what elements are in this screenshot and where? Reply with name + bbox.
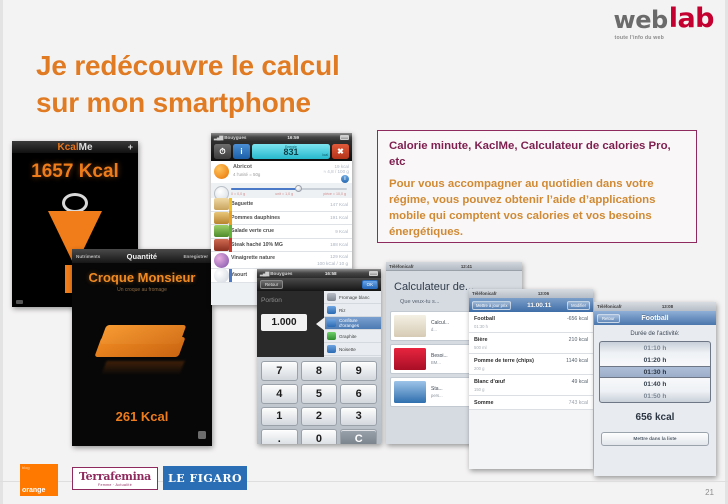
calc-time: 12:41 [461, 264, 472, 269]
screenshot-football-picker: Téléfonicafr 13:08 Retour Football Durée… [594, 302, 716, 476]
timer-icon[interactable]: ⏱ [214, 144, 231, 159]
football-time: 13:08 [662, 304, 673, 309]
list-item-sub: d... [431, 327, 449, 332]
key-6[interactable]: 6 [340, 384, 377, 404]
football-nav-title: Football [594, 315, 716, 322]
list-item[interactable]: Bière 500 ml 210 kcal [469, 333, 593, 354]
list-item-name: Baguette [231, 201, 330, 207]
list-item[interactable]: Riz [324, 304, 381, 317]
list-item-kcal: 49 kcal [572, 379, 588, 385]
portion-label: Portion [261, 297, 320, 304]
duration-picker[interactable]: 01:10 h 01:20 h 01:30 h 01:40 h 01:50 h [599, 341, 711, 403]
list-item-qty: 01:30 h [474, 324, 495, 329]
slider-ticks: 0 = 0,0 g unit = 1,0 g pièce = 10,0 g [231, 192, 346, 196]
signal-icon: ▂▄▆ [214, 135, 222, 141]
add-to-list-button[interactable]: Mettre dans la liste [601, 432, 709, 446]
list-item-selected[interactable]: Confiture d'oranges [324, 317, 381, 330]
list-item[interactable]: Pommes dauphines 191 Kcal [211, 212, 352, 226]
list-item-qty: 500 ml [474, 345, 488, 350]
list-item-kcal: 191 Kcal [330, 215, 348, 220]
detail-info-icon[interactable]: i [341, 175, 349, 183]
kcallist-sum-row: Somme 743 kcal [469, 396, 593, 410]
item-swatch [327, 306, 336, 314]
croque-nav-title: Quantité [127, 252, 157, 261]
terrafemina-logo: Terrafemina Femme · Actualité [72, 467, 158, 490]
croque-food-subtitle: Un croque au fromage [72, 287, 212, 293]
info-icon[interactable]: i [233, 144, 250, 159]
list-item[interactable]: Pomme de terre (chips) 200 g 1140 kcal [469, 354, 593, 375]
energy-badge-value: 831 [283, 148, 298, 157]
list-item-kcal: 147 Kcal [330, 202, 348, 207]
list-item[interactable]: Blanc d'œuf 150 g 49 kcal [469, 375, 593, 396]
key-0[interactable]: 0 [301, 429, 338, 444]
figure-head [62, 193, 88, 213]
footer: blog orange Terrafemina Femme · Actualit… [0, 456, 728, 504]
foodlist-carrier: ▂▄▆ Bouygues [214, 135, 246, 141]
category-stripe [229, 211, 232, 225]
key-9[interactable]: 9 [340, 361, 377, 381]
kcallist-carrier: Téléfonicafr [472, 291, 497, 296]
duration-label: Durée de l'activité: [594, 325, 716, 341]
apple-icon [214, 164, 229, 179]
list-item-name: Blanc d'œuf [474, 379, 505, 385]
croque-food-image [94, 321, 190, 377]
food-thumb-baguette [214, 198, 229, 210]
key-5[interactable]: 5 [301, 384, 338, 404]
food-thumb-yaourt [214, 268, 229, 283]
list-item-label: Riz [339, 308, 346, 313]
croque-reflection [101, 361, 184, 375]
list-item-label: Noisette [339, 347, 356, 352]
terrafemina-name: Terrafemina [79, 470, 151, 483]
keypad-carrier-label: Bouygues [270, 271, 292, 276]
food-thumb-steak [214, 239, 229, 251]
calc-thumb-2 [394, 348, 426, 370]
keypad-field-area: Portion 1.000 [257, 291, 324, 357]
key-2[interactable]: 2 [301, 407, 338, 427]
list-item[interactable]: Baguette 147 Kcal [211, 198, 352, 212]
orange-name: orange [22, 487, 45, 494]
calc-row-text: Besoi... BM... [431, 353, 448, 366]
croque-nav-left[interactable]: Nutriments [76, 254, 100, 259]
sum-kcal: 743 kcal [569, 400, 588, 406]
hero-text: Abricot 4 l'unité = 50g [229, 164, 323, 183]
list-item-name: Bière [474, 337, 488, 343]
list-item[interactable]: Graphite [324, 330, 381, 343]
battery-icon [369, 271, 378, 276]
item-swatch [327, 332, 336, 340]
numeric-keypad: 7 8 9 4 5 6 1 2 3 . 0 C [257, 357, 381, 444]
calc-thumb-3 [394, 381, 426, 403]
kcallist-time: 13:06 [538, 291, 549, 296]
foodlist-statusbar: ▂▄▆ Bouygues 16:59 [211, 133, 352, 142]
croque-slice-top [100, 325, 187, 344]
keypad-navbar: Retour OK [257, 278, 381, 291]
portion-value[interactable]: 1.000 [261, 314, 307, 331]
hero-per-unit: ≈ 4,8 / 100 g [323, 169, 349, 174]
list-item-kcal: 188 Kcal [330, 242, 348, 247]
list-item-title: Sta... [431, 386, 443, 394]
kcallist-statusbar: Téléfonicafr 13:06 [469, 289, 593, 298]
logo-lab-label: lab [669, 5, 714, 32]
done-button[interactable]: OK [362, 280, 378, 289]
kcalme-app-title: KcalMe [57, 142, 92, 153]
list-item-name: Football [474, 316, 495, 322]
croque-corner-button[interactable] [198, 431, 206, 439]
callout-box: Calorie minute, KaclMe, Calculateur de c… [377, 130, 697, 243]
croque-nav-right[interactable]: Enregistrer [183, 254, 208, 259]
croque-kcal-value: 261 Kcal [72, 409, 212, 424]
football-carrier: Téléfonicafr [597, 304, 622, 309]
logo-web-text: web toute l'info du web [614, 8, 668, 32]
calc-carrier: Téléfonicafr [389, 264, 414, 269]
keypad-option-list: Fromage blanc Riz Confiture d'oranges Gr… [324, 291, 381, 357]
energy-badge-label: Energie [285, 145, 297, 149]
back-button[interactable]: Retour [260, 280, 283, 289]
kcalme-footer-button[interactable] [16, 300, 23, 304]
slider-knob[interactable] [295, 185, 302, 192]
foodlist-carrier-label: Bouygues [224, 135, 246, 140]
category-stripe [229, 225, 232, 239]
foodlist-time: 16:59 [287, 135, 299, 140]
quantity-slider[interactable] [231, 186, 347, 191]
list-item-qty: 200 g [474, 366, 534, 371]
croque-navbar: Nutriments Quantité Enregistrer [72, 249, 212, 263]
list-item-sub: BM... [431, 360, 448, 365]
list-item-sub: pers... [431, 393, 443, 398]
figaro-name: LE FIGARO [168, 472, 242, 485]
screenshot-keypad: ▂▄▆ Bouygues 16:58 Retour OK Portion 1.0… [257, 269, 381, 444]
list-item-name: Salade verte crue [231, 228, 335, 234]
key-8[interactable]: 8 [301, 361, 338, 381]
slide: web toute l'info du web lab Je redécouvr… [0, 0, 728, 504]
kcallist-nav-title: 11.00.11 [527, 302, 551, 309]
category-stripe [229, 269, 232, 283]
food-thumb-dauphines [214, 212, 229, 224]
energy-badge: Energie 831 kcal [252, 144, 330, 159]
tick-left: 0 = 0,0 g [231, 192, 245, 196]
logo-tagline: toute l'info du web [615, 36, 664, 41]
list-item-kcal: -656 kcal [567, 316, 588, 322]
calc-row-text: Calcul... d... [431, 320, 449, 333]
figaro-logo: LE FIGARO [163, 466, 247, 490]
signal-icon: ▂▄▆ [260, 271, 268, 277]
keypad-time: 16:58 [325, 271, 337, 276]
category-stripe [229, 238, 232, 252]
list-item[interactable]: Steak haché 10% MG 188 Kcal [211, 239, 352, 253]
list-item-title: Calcul... [431, 320, 449, 328]
orange-logo: blog orange [20, 464, 58, 496]
list-item-label: Graphite [339, 334, 357, 339]
screenshot-croque-monsieur: Nutriments Quantité Enregistrer Croque M… [72, 249, 212, 446]
list-item-title: Besoi... [431, 353, 448, 361]
list-item-sub: 100 kCal / 10 g [231, 261, 348, 266]
hero-food-sub: 4 l'unité = 50g [233, 172, 323, 177]
kcalme-calorie-value: 1657 Kcal [12, 161, 138, 183]
picker-option[interactable]: 01:40 h [600, 378, 710, 390]
picker-option[interactable]: 01:50 h [600, 390, 710, 402]
list-item-text: Bière 500 ml [474, 337, 488, 350]
key-decimal[interactable]: . [261, 429, 298, 444]
food-thumb-vinaigrette [214, 253, 229, 268]
list-item-text: Blanc d'œuf 150 g [474, 379, 505, 392]
food-thumb-salade [214, 225, 229, 237]
list-item-kcal: 9 Kcal [335, 229, 348, 234]
football-navbar: Retour Football [594, 311, 716, 325]
energy-badge-unit: kcal [322, 153, 328, 157]
list-item[interactable]: Vinaigrette nature 100 kCal / 10 g 129 K… [211, 252, 352, 269]
tick-mid: unit = 1,0 g [275, 192, 293, 196]
list-item-name: Pommes dauphines [231, 215, 330, 221]
keypad-statusbar: ▂▄▆ Bouygues 16:58 [257, 269, 381, 278]
list-item-label: Confiture d'oranges [339, 318, 378, 328]
list-item-kcal: 1140 kcal [566, 358, 588, 364]
key-clear[interactable]: C [340, 429, 377, 444]
battery-icon [340, 135, 349, 140]
list-item-name: Pomme de terre (chips) [474, 358, 534, 364]
callout-heading: Calorie minute, KaclMe, Calculateur de c… [389, 139, 686, 170]
kcallist-navbar: Mettre à jour prix 11.00.11 Modifier [469, 298, 593, 312]
hero-food-name: Abricot [233, 164, 323, 170]
orange-tag: blog [22, 465, 30, 470]
foodlist-toolbar: ⏱ i Energie 831 kcal ✖ [211, 142, 352, 161]
update-prices-button[interactable]: Mettre à jour prix [472, 301, 511, 310]
tick-right: pièce = 10,0 g [323, 192, 346, 196]
football-statusbar: Téléfonicafr 13:08 [594, 302, 716, 311]
picker-option[interactable]: 01:10 h [600, 342, 710, 354]
calc-statusbar: Téléfonicafr 12:41 [386, 262, 522, 271]
title-line-1: Je redécouvre le calcul [36, 48, 456, 85]
list-item[interactable]: Fromage blanc [324, 291, 381, 304]
slide-left-edge [0, 0, 3, 504]
keypad-middle: Portion 1.000 Fromage blanc Riz Confitur… [257, 291, 381, 357]
weblab-logo: web toute l'info du web lab [614, 5, 714, 32]
kcalme-title-kcal: Kcal [57, 142, 78, 153]
category-stripe [229, 198, 232, 212]
item-swatch [327, 319, 336, 327]
picker-option-selected[interactable]: 01:30 h [600, 366, 710, 378]
football-total-kcal: 656 kcal [594, 412, 716, 423]
calc-row-text: Sta... pers... [431, 386, 443, 399]
list-item[interactable]: Football 01:30 h -656 kcal [469, 312, 593, 333]
item-swatch [327, 345, 336, 353]
add-icon[interactable]: + [128, 142, 133, 152]
kcalme-titlebar: KcalMe + [12, 141, 138, 154]
terrafemina-sub: Femme · Actualité [79, 483, 151, 487]
key-4[interactable]: 4 [261, 384, 298, 404]
logo-web-label: web [614, 6, 668, 34]
list-item[interactable]: Noisette [324, 343, 381, 356]
selection-arrow-icon [316, 317, 325, 331]
item-swatch [327, 293, 336, 301]
list-item-label: Fromage blanc [339, 295, 370, 300]
croque-food-name: Croque Monsieur [72, 270, 212, 285]
slider-fill [231, 188, 298, 190]
picker-option[interactable]: 01:20 h [600, 354, 710, 366]
calc-thumb-1 [394, 315, 426, 337]
list-item-text: Pomme de terre (chips) 200 g [474, 358, 534, 371]
keypad-carrier: ▂▄▆ Bouygues [260, 271, 292, 277]
list-item-text: Football 01:30 h [474, 316, 495, 329]
list-item-kcal: 210 kcal [569, 337, 588, 343]
title-line-2: sur mon smartphone [36, 85, 456, 122]
list-item-qty: 150 g [474, 387, 505, 392]
list-item-kcal: 129 Kcal [330, 254, 348, 259]
screenshot-kcal-list: Téléfonicafr 13:06 Mettre à jour prix 11… [469, 289, 593, 469]
page-title: Je redécouvre le calcul sur mon smartpho… [36, 48, 456, 122]
key-7[interactable]: 7 [261, 361, 298, 381]
hero-values: 19 kcal ≈ 4,8 / 100 g i [323, 164, 349, 183]
callout-body: Pour vous accompagner au quotidien dans … [389, 177, 686, 241]
sum-label: Somme [474, 400, 493, 406]
edit-button[interactable]: Modifier [567, 301, 590, 310]
page-number: 21 [705, 488, 714, 497]
list-item[interactable]: Salade verte crue 9 Kcal [211, 225, 352, 239]
key-3[interactable]: 3 [340, 407, 377, 427]
foodlist-hero-row[interactable]: Abricot 4 l'unité = 50g 19 kcal ≈ 4,8 / … [211, 161, 352, 183]
kcalme-title-me: Me [79, 142, 93, 153]
key-1[interactable]: 1 [261, 407, 298, 427]
list-item-name: Steak haché 10% MG [231, 242, 330, 248]
close-icon[interactable]: ✖ [332, 144, 349, 159]
